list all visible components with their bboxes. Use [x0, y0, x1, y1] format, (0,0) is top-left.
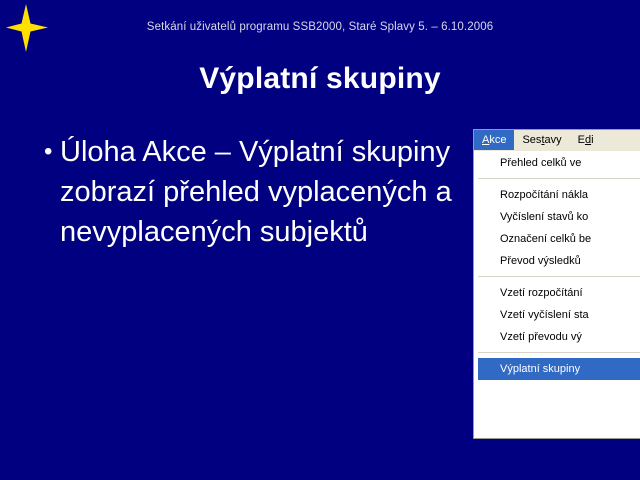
page-title: Výplatní skupiny — [0, 62, 640, 96]
slide-header-text: Setkání uživatelů programu SSB2000, Star… — [0, 21, 640, 33]
menubar-sestavy-pre: Ses — [522, 134, 541, 146]
menu-separator — [478, 352, 640, 354]
slide-body: • Úloha Akce – Výplatní skupiny zobrazí … — [44, 132, 464, 252]
menu-item[interactable]: Přehled celků ve — [474, 152, 640, 174]
menu-item[interactable]: Označení celků be — [474, 228, 640, 250]
menu-bar: Akce Sestavy Edi — [474, 130, 640, 151]
menubar-akce-mnemonic: A — [482, 134, 489, 146]
menubar-item-edit[interactable]: Edi — [570, 130, 602, 150]
menu-item[interactable]: Vzetí vyčíslení sta — [474, 304, 640, 326]
menubar-edit-post: i — [591, 134, 593, 146]
bullet-list-item: • Úloha Akce – Výplatní skupiny zobrazí … — [44, 132, 464, 252]
application-menu-screenshot: Akce Sestavy Edi Přehled celků veRozpočí… — [473, 129, 640, 439]
menu-item[interactable]: Výplatní skupiny — [474, 358, 640, 380]
menu-gutter — [474, 152, 478, 439]
menu-separator — [478, 276, 640, 278]
menubar-item-sestavy[interactable]: Sestavy — [514, 130, 569, 150]
menu-item[interactable]: Rozpočítání nákla — [474, 184, 640, 206]
menubar-edit-pre: E — [578, 134, 585, 146]
bullet-marker: • — [44, 132, 60, 172]
menu-dropdown-akce: Přehled celků veRozpočítání náklaVyčísle… — [474, 151, 640, 439]
menu-item[interactable]: Vzetí převodu vý — [474, 326, 640, 348]
menu-separator — [478, 178, 640, 180]
presentation-slide: Setkání uživatelů programu SSB2000, Star… — [0, 0, 640, 480]
menubar-akce-rest: kce — [489, 134, 506, 146]
menu-item[interactable]: Vzetí rozpočítání — [474, 282, 640, 304]
menubar-item-akce[interactable]: Akce — [474, 130, 514, 150]
menu-item[interactable]: Vyčíslení stavů ko — [474, 206, 640, 228]
bullet-text: Úloha Akce – Výplatní skupiny zobrazí př… — [60, 132, 464, 252]
menu-item-list: Přehled celků veRozpočítání náklaVyčísle… — [474, 152, 640, 380]
menu-item[interactable]: Převod výsledků — [474, 250, 640, 272]
menubar-sestavy-post: avy — [545, 134, 562, 146]
